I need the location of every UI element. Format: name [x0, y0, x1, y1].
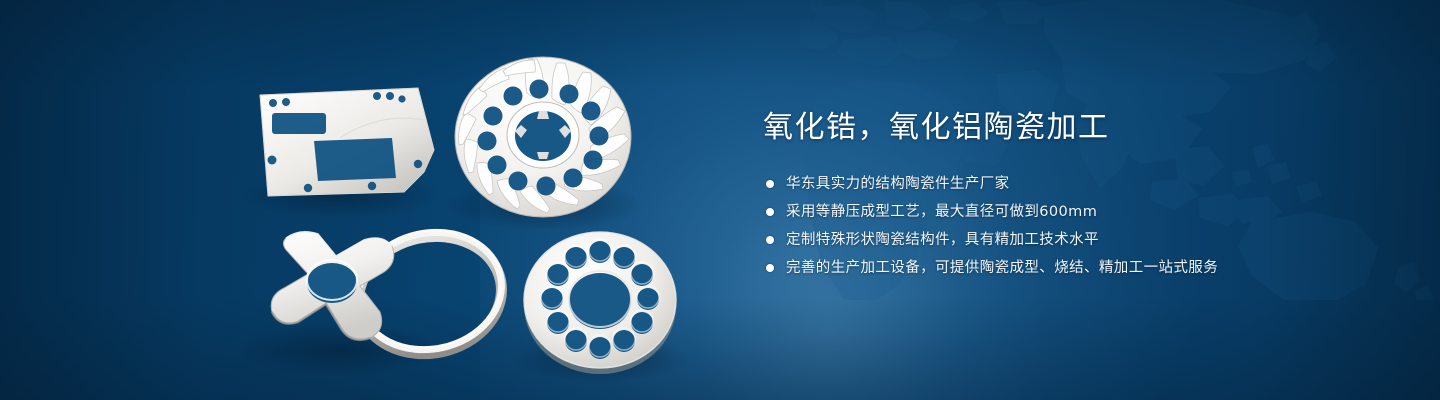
bullet-dot-icon — [766, 264, 774, 272]
feature-text: 采用等静压成型工艺，最大直径可做到600mm — [786, 201, 1097, 223]
bullet-dot-icon — [766, 180, 774, 188]
page-title: 氧化锆，氧化铝陶瓷加工 — [763, 108, 1383, 148]
bullet-dot-icon — [766, 236, 774, 244]
product-photo-cluster — [0, 0, 720, 400]
list-item: 华东具实力的结构陶瓷件生产厂家 — [766, 172, 1383, 195]
ceramic-impeller-disc — [455, 57, 631, 217]
list-item: 完善的生产加工设备，可提供陶瓷成型、烧结、精加工一站式服务 — [766, 256, 1383, 279]
feature-text: 定制特殊形状陶瓷结构件，具有精加工技术水平 — [786, 229, 1099, 251]
feature-list: 华东具实力的结构陶瓷件生产厂家 采用等静压成型工艺，最大直径可做到600mm 定… — [766, 172, 1383, 279]
ceramic-plate-with-cutouts — [260, 88, 434, 196]
ceramic-perforated-disc — [524, 232, 676, 374]
list-item: 采用等静压成型工艺，最大直径可做到600mm — [766, 200, 1383, 223]
feature-text: 华东具实力的结构陶瓷件生产厂家 — [786, 173, 1010, 195]
banner-copy: 氧化锆，氧化铝陶瓷加工 华东具实力的结构陶瓷件生产厂家 采用等静压成型工艺，最大… — [763, 108, 1383, 284]
list-item: 定制特殊形状陶瓷结构件，具有精加工技术水平 — [766, 228, 1383, 251]
ceramic-cross-shaped-part — [271, 232, 394, 340]
feature-text: 完善的生产加工设备，可提供陶瓷成型、烧结、精加工一站式服务 — [786, 257, 1218, 279]
promo-banner: 氧化锆，氧化铝陶瓷加工 华东具实力的结构陶瓷件生产厂家 采用等静压成型工艺，最大… — [0, 0, 1440, 400]
bullet-dot-icon — [766, 208, 774, 216]
